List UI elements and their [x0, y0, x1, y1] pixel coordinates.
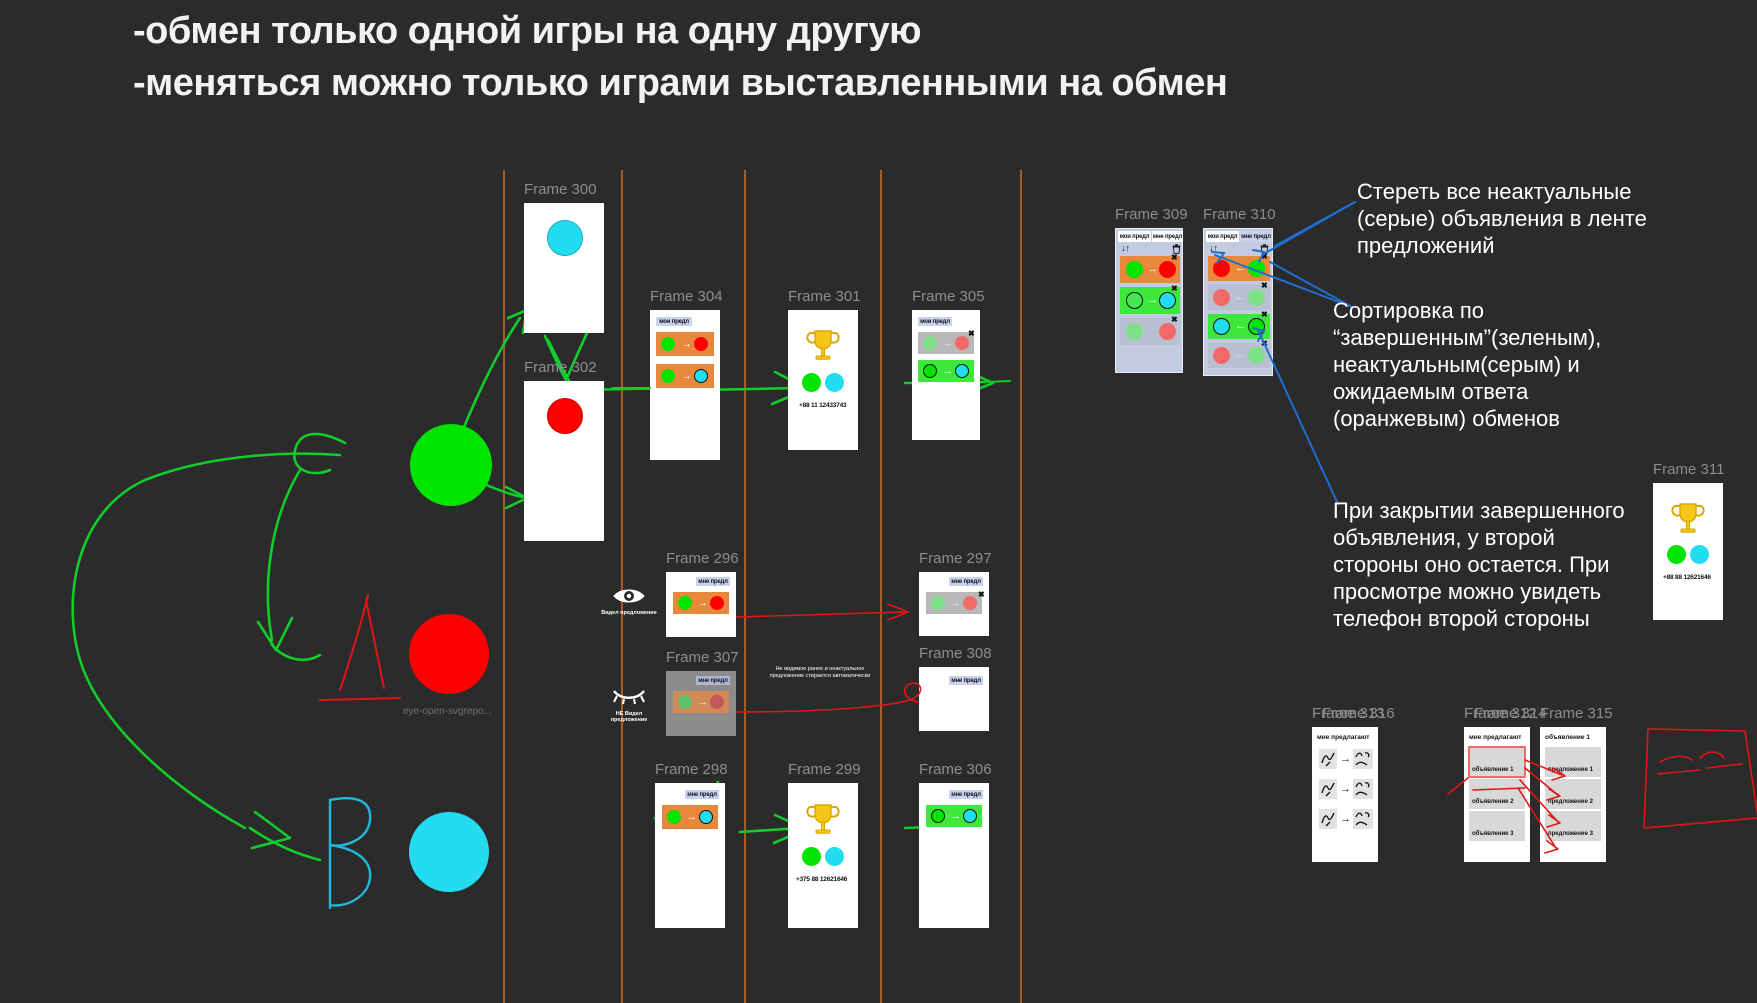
- ad-title: объявление 1: [1545, 734, 1590, 741]
- frame-308-screen[interactable]: мне предл: [919, 667, 989, 731]
- eye-open-icon: [612, 586, 646, 606]
- result-dot-green: [802, 847, 821, 866]
- offer-dot-green: [667, 810, 681, 824]
- eye-closed-icon: [612, 687, 646, 705]
- exchange-arrow-icon: →: [697, 598, 708, 609]
- offer-dot-green: [661, 337, 675, 351]
- exchange-arrow-icon: ←: [1235, 321, 1246, 332]
- tab-to-me[interactable]: мне предл: [685, 790, 719, 799]
- exchange-arrow-icon: →: [942, 338, 953, 349]
- swap-arrow-icon: →: [1340, 814, 1351, 825]
- frame-304-label: Frame 304: [650, 288, 723, 305]
- result-dot-cyan: [825, 373, 844, 392]
- game-thumb-right: [1353, 809, 1373, 829]
- close-icon[interactable]: ✖: [968, 330, 975, 338]
- game-thumb-right: [1353, 749, 1373, 769]
- frame-305-screen[interactable]: мои предл → ✖ →: [912, 310, 980, 440]
- offer-cell-3[interactable]: предложение 3: [1545, 811, 1601, 841]
- offer-label: предложение 2: [1548, 799, 1593, 805]
- exchange-arrow-icon: →: [681, 339, 692, 350]
- cyan-circle-big: [409, 812, 489, 892]
- exchange-arrow-icon: ←: [1235, 350, 1246, 361]
- frame-316-screen[interactable]: мне предлагают → →: [1312, 727, 1378, 862]
- exchange-arrow-icon: ←: [1235, 263, 1246, 274]
- game-thumb-left: [1319, 779, 1337, 799]
- sort-icon[interactable]: ↓↑: [1121, 244, 1130, 253]
- exchange-row-stale[interactable]: → ✖: [918, 332, 974, 354]
- red-game-dot: [547, 398, 583, 434]
- exchange-arrow-icon: →: [950, 811, 961, 822]
- annotation-close-completed: При закрытии завершенного объявления, у …: [1333, 497, 1633, 632]
- exchange-row-completed[interactable]: →: [918, 360, 974, 382]
- frame-316-label: Frame 316: [1322, 705, 1395, 722]
- tab-my-offers[interactable]: мои предл: [918, 317, 952, 326]
- offer-dot-green-dim: [1248, 289, 1265, 306]
- frame-297-screen[interactable]: мне предл → ✖: [919, 572, 989, 636]
- close-icon[interactable]: ✖: [1171, 254, 1178, 262]
- offer-cell-2[interactable]: предложение 2: [1545, 779, 1601, 809]
- offer-dot-red-dim: [963, 596, 977, 610]
- exchange-row-completed[interactable]: ← ✖: [1208, 314, 1270, 339]
- annotation-sorting: Сортировка по “завершенным”(зеленым), не…: [1333, 297, 1653, 432]
- tab-to-me[interactable]: мне предл: [949, 676, 983, 685]
- phone-number: +88 11 12433743: [799, 402, 846, 409]
- trophy-icon: [1671, 500, 1705, 540]
- frame-306-screen[interactable]: мне предл →: [919, 783, 989, 928]
- list-header: мне предлагают: [1469, 734, 1521, 741]
- offer-label: предложение 1: [1548, 767, 1593, 773]
- tab-to-me[interactable]: мне предл: [949, 790, 983, 799]
- eye-open-svgrepo-caption: eye-open-svgrepo...: [403, 706, 492, 717]
- offer-dot-green: [931, 809, 945, 823]
- exchange-arrow-icon: →: [686, 812, 697, 823]
- frame-307-screen[interactable]: мне предл →: [666, 671, 736, 736]
- frame-298-screen[interactable]: мне предл →: [655, 783, 725, 928]
- list-header: мне предлагают: [1317, 734, 1369, 741]
- exchange-row-stale-2[interactable]: ← ✖: [1208, 343, 1270, 368]
- offer-dot-red-dim: [955, 336, 969, 350]
- frame-300-label: Frame 300: [524, 181, 597, 198]
- offer-dot-green: [1126, 261, 1143, 278]
- phone-number: +375 88 12621646: [796, 876, 847, 883]
- exchange-row-pending-2[interactable]: →: [656, 364, 714, 388]
- tab-my-offers[interactable]: мои предл: [656, 317, 692, 326]
- offer-dot-cyan: [694, 369, 708, 383]
- exchange-row-completed[interactable]: → ✖: [1120, 287, 1180, 314]
- exchange-arrow-icon: ←: [1235, 292, 1246, 303]
- close-icon[interactable]: ✖: [1171, 316, 1178, 324]
- frame-305-label: Frame 305: [912, 288, 985, 305]
- exchange-arrow-icon: →: [681, 371, 692, 382]
- exchange-row-completed[interactable]: →: [926, 805, 982, 827]
- ad-cell-2[interactable]: объявление 2: [1469, 779, 1525, 809]
- ad-label: объявление 3: [1472, 831, 1514, 837]
- swap-row[interactable]: →: [1319, 749, 1373, 772]
- exchange-arrow-icon: →: [1147, 295, 1158, 306]
- tab-to-me[interactable]: мне предл: [949, 577, 983, 586]
- frame-297-label: Frame 297: [919, 550, 992, 567]
- trophy-icon: [806, 801, 840, 841]
- offer-dot-cyan: [1159, 292, 1176, 309]
- sort-icon[interactable]: ↓↑: [1209, 244, 1218, 253]
- offer-dot-green: [661, 369, 675, 383]
- frame-302-screen[interactable]: [524, 381, 604, 541]
- frame-310-label: Frame 310: [1203, 206, 1276, 223]
- phone-number: +88 88 12621646: [1663, 574, 1711, 581]
- exchange-row-pending[interactable]: → ✖: [1120, 256, 1180, 283]
- offer-dot-red-dim: [1213, 347, 1230, 364]
- frame-314-label: Frame 314: [1474, 705, 1547, 722]
- exchange-row-stale[interactable]: → ✖: [926, 592, 982, 614]
- tab-my-offers[interactable]: мои предл: [1206, 231, 1239, 242]
- offer-dot-cyan: [699, 810, 713, 824]
- offer-dot-green: [923, 364, 937, 378]
- tab-to-me[interactable]: мне предл: [1152, 231, 1183, 242]
- exchange-row-pending-1[interactable]: →: [656, 332, 714, 356]
- offer-label: предложение 3: [1548, 831, 1593, 837]
- ad-cell-3[interactable]: объявление 3: [1469, 811, 1525, 841]
- frame-301-label: Frame 301: [788, 288, 861, 305]
- offer-dot-red: [1159, 261, 1176, 278]
- frame-310-screen[interactable]: мои предл мне предл ↓↑ ← ✖ ← ✖: [1203, 228, 1273, 376]
- tab-to-me[interactable]: мне предл: [696, 676, 730, 685]
- offer-dot-red-dim: [1213, 289, 1230, 306]
- frame-308-label: Frame 308: [919, 645, 992, 662]
- green-circle-big: [410, 424, 492, 506]
- annotation-erase-stale: Стереть все неактуальные (серые) объявле…: [1357, 178, 1687, 259]
- red-circle-big: [409, 614, 489, 694]
- close-icon[interactable]: ✖: [1261, 282, 1268, 290]
- game-thumb-left: [1319, 749, 1337, 769]
- exchange-row-new[interactable]: →: [673, 592, 729, 614]
- exchange-row-stale[interactable]: ✖: [1120, 318, 1180, 345]
- close-icon[interactable]: ✖: [1261, 311, 1268, 319]
- close-icon[interactable]: ✖: [1171, 285, 1178, 293]
- close-icon[interactable]: ✖: [978, 591, 985, 599]
- offer-dot-green-dim: [931, 596, 945, 610]
- eye-closed-caption: НЕ Видел предложение: [600, 711, 658, 723]
- frame-309-screen[interactable]: мои предл мне предл ↓↑ → ✖ → ✖: [1115, 228, 1183, 373]
- game-thumb-right: [1353, 779, 1373, 799]
- swap-row[interactable]: →: [1319, 779, 1373, 802]
- exchange-row-pending[interactable]: →: [662, 805, 718, 829]
- offer-dot-red-dim: [710, 695, 724, 709]
- frame-301-screen[interactable]: +88 11 12433743: [788, 310, 858, 450]
- offer-dot-green-dim: [1248, 347, 1265, 364]
- close-icon[interactable]: ✖: [1261, 340, 1268, 348]
- offer-dot-green-dim: [1126, 323, 1143, 340]
- tab-my-offers[interactable]: мои предл: [1118, 231, 1151, 242]
- swap-arrow-icon: →: [1340, 784, 1351, 795]
- exchange-arrow-icon: →: [1147, 264, 1158, 275]
- exchange-row-pending[interactable]: ← ✖: [1208, 256, 1270, 281]
- frame-315-screen[interactable]: объявление 1 предложение 1 предложение 2…: [1540, 727, 1606, 862]
- offer-dot-cyan: [955, 364, 969, 378]
- offer-dot-green: [678, 596, 692, 610]
- offer-dot-green: [1248, 260, 1265, 277]
- exchange-arrow-icon: →: [697, 697, 708, 708]
- frame-299-screen[interactable]: +375 88 12621646: [788, 783, 858, 928]
- swap-arrow-icon: →: [1340, 754, 1351, 765]
- frame-314-screen[interactable]: мне предлагают объявление 1 объявление 2…: [1464, 727, 1530, 862]
- swap-row[interactable]: →: [1319, 809, 1373, 832]
- ad-cell-1[interactable]: объявление 1: [1469, 747, 1525, 777]
- exchange-arrow-icon: →: [942, 366, 953, 377]
- offer-dot-green-dim: [923, 336, 937, 350]
- game-thumb-left: [1319, 809, 1337, 829]
- frame-315-label: Frame 315: [1540, 705, 1613, 722]
- offer-dot-red: [1213, 260, 1230, 277]
- frame-307-label: Frame 307: [666, 649, 739, 666]
- whiteboard-canvas: -обмен только одной игры на одну другую …: [0, 0, 1757, 1003]
- offer-dot-red: [710, 596, 724, 610]
- frame-309-label: Frame 309: [1115, 206, 1188, 223]
- offer-dot-red: [694, 337, 708, 351]
- exchange-arrow-icon: →: [950, 598, 961, 609]
- frame-311-label: Frame 311: [1653, 461, 1724, 478]
- ad-label: объявление 1: [1472, 767, 1514, 773]
- frame-296-screen[interactable]: мне предл →: [666, 572, 736, 637]
- result-dot-cyan: [1690, 545, 1709, 564]
- offer-dot-cyan: [1213, 318, 1230, 335]
- close-icon[interactable]: ✖: [1261, 253, 1268, 261]
- offer-dot-green: [1248, 318, 1265, 335]
- eye-open-caption: Видел предложение: [600, 610, 658, 616]
- offer-dot-green-dim: [678, 695, 692, 709]
- result-dot-green: [802, 373, 821, 392]
- offer-cell-1[interactable]: предложение 1: [1545, 747, 1601, 777]
- auto-erase-note: Не видимое ранее и неактуальное предложе…: [760, 666, 880, 680]
- offer-dot-red-dim: [1159, 323, 1176, 340]
- offer-dot-cyan: [963, 809, 977, 823]
- frame-296-label: Frame 296: [666, 550, 739, 567]
- result-dot-green: [1667, 545, 1686, 564]
- frame-304-screen[interactable]: мои предл → →: [650, 310, 720, 460]
- frame-302-label: Frame 302: [524, 359, 597, 376]
- tab-to-me[interactable]: мне предл: [1240, 231, 1272, 242]
- exchange-row-stale-1[interactable]: ← ✖: [1208, 285, 1270, 310]
- trophy-icon: [806, 327, 840, 367]
- frame-311-screen[interactable]: +88 88 12621646: [1653, 483, 1723, 620]
- note-line-2: -меняться можно только играми выставленн…: [133, 62, 1227, 105]
- note-line-1: -обмен только одной игры на одну другую: [133, 10, 921, 53]
- offer-dot-green: [1126, 292, 1143, 309]
- frame-298-label: Frame 298: [655, 761, 728, 778]
- result-dot-cyan: [825, 847, 844, 866]
- ad-label: объявление 2: [1472, 799, 1514, 805]
- exchange-row-stale[interactable]: →: [673, 691, 729, 713]
- frame-300-screen[interactable]: [524, 203, 604, 333]
- tab-to-me[interactable]: мне предл: [696, 577, 730, 586]
- cyan-game-dot: [547, 220, 583, 256]
- frame-306-label: Frame 306: [919, 761, 992, 778]
- frame-299-label: Frame 299: [788, 761, 861, 778]
